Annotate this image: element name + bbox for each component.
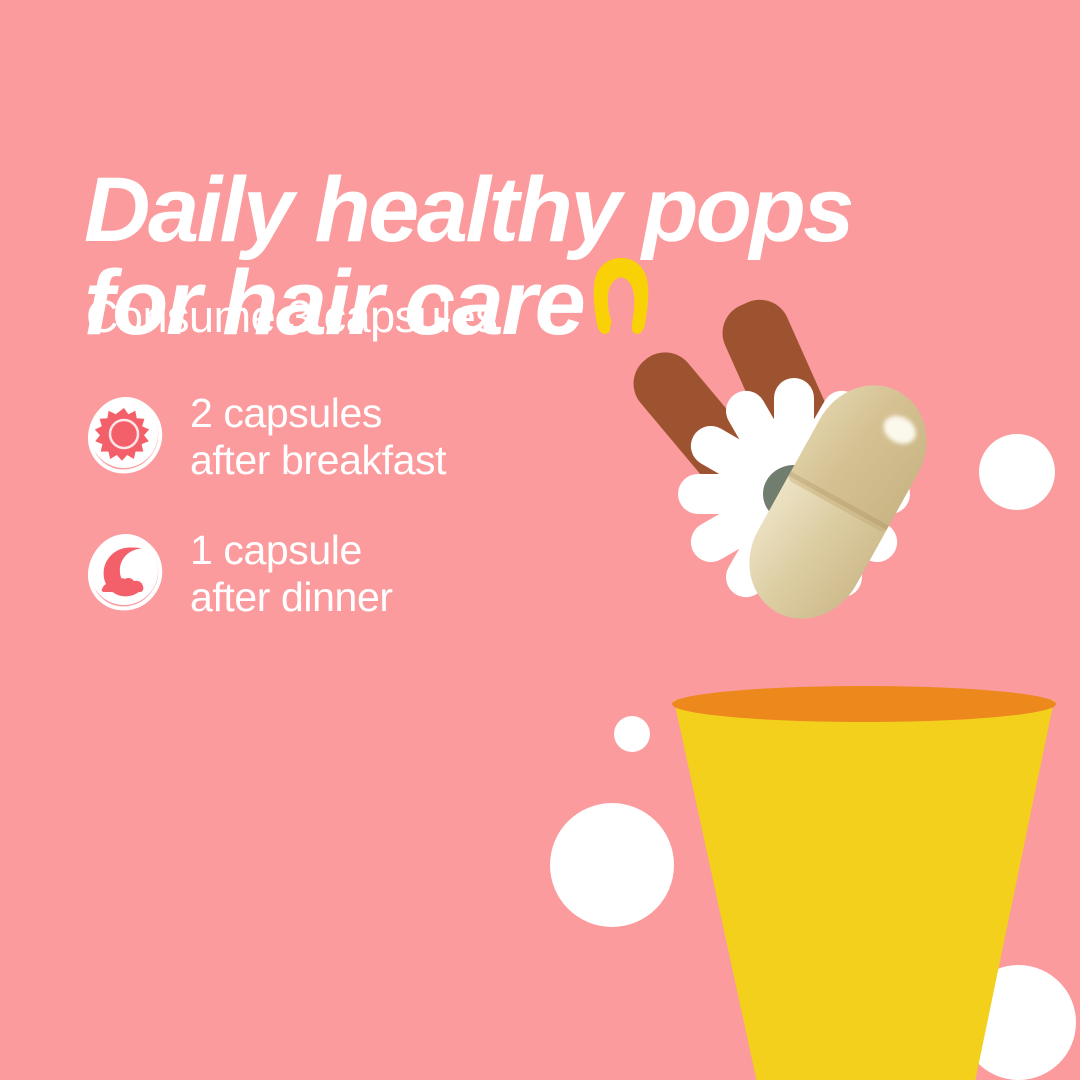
poster-canvas: Daily healthy pops for hair care Consume… — [0, 0, 1080, 1080]
dose-item-breakfast: 2 capsules after breakfast — [86, 388, 606, 483]
subtitle: Consume 3 capsules — [86, 292, 497, 342]
sun-icon — [90, 400, 158, 468]
dose-item-dinner: 1 capsule after dinner — [86, 525, 606, 620]
long-hair-icon — [589, 256, 653, 340]
white-bubble — [614, 716, 650, 752]
dose-item-label: 1 capsule after dinner — [190, 525, 393, 620]
dose-item-label: 2 capsules after breakfast — [190, 388, 446, 483]
glass-rim — [672, 686, 1056, 722]
glass-body — [672, 700, 1056, 1080]
dose-badge — [86, 396, 164, 474]
yellow-glass — [672, 686, 1056, 1080]
white-bubble — [550, 803, 674, 927]
dose-list: 2 capsules after breakfast 1 capsule aft… — [86, 388, 606, 663]
moon-cloud-icon — [90, 537, 158, 605]
dose-badge — [86, 533, 164, 611]
